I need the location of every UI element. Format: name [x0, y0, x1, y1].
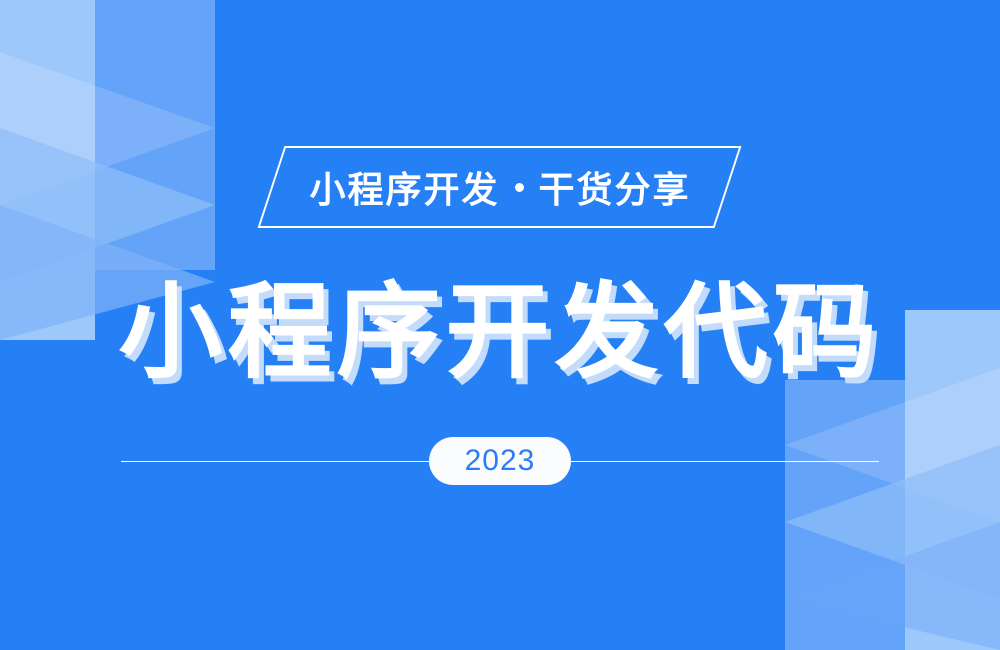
middle-dot-icon [515, 183, 524, 192]
right-vertical-band-inner [785, 380, 905, 650]
promo-banner: 小程序开发 干货分享 小程序开发代码 2023 [0, 0, 1000, 650]
subtitle-right-text: 干货分享 [539, 161, 691, 213]
page-title: 小程序开发代码 [0, 272, 1000, 394]
year-row: 2023 [0, 437, 1000, 485]
subtitle-banner: 小程序开发 干货分享 [0, 146, 1000, 230]
right-band-overlay [785, 522, 905, 650]
divider-line-left [121, 461, 431, 462]
subtitle-left-text: 小程序开发 [309, 161, 499, 213]
left-band-overlay [95, 0, 215, 128]
year-badge: 2023 [429, 437, 571, 485]
divider-line-right [569, 461, 879, 462]
subtitle-text: 小程序开发 干货分享 [0, 146, 1000, 228]
right-lower-triangle [785, 522, 1000, 650]
